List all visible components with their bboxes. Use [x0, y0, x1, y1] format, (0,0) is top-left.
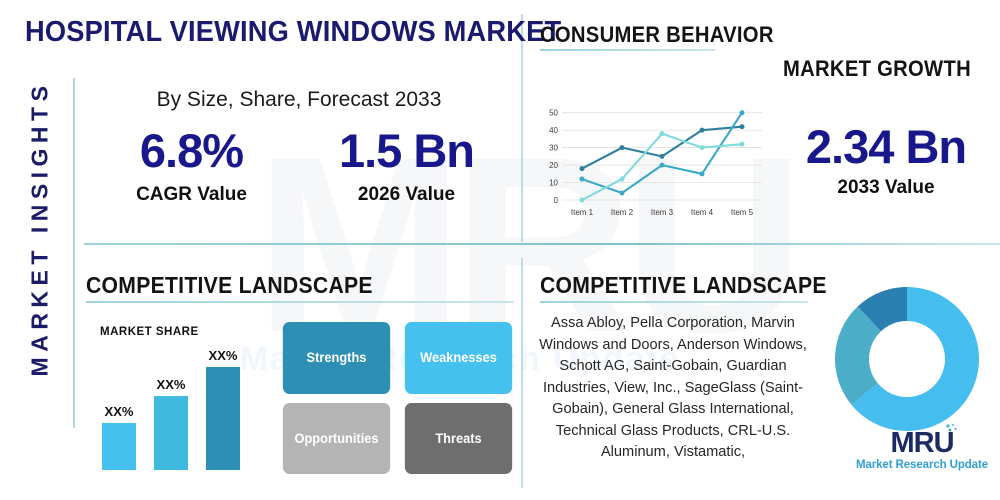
svg-text:0: 0	[554, 196, 559, 205]
svg-text:40: 40	[549, 126, 558, 135]
kpi-2026-value: 1.5 Bn	[299, 122, 514, 180]
svg-text:XX%: XX%	[105, 404, 134, 419]
swot-cell-label: Strengths	[307, 350, 367, 365]
market-growth-heading: MARKET GROWTH	[783, 56, 971, 82]
kpi-cagr: 6.8% CAGR Value	[84, 122, 299, 206]
swot-cell-label: Opportunities	[294, 431, 378, 446]
svg-text:XX%: XX%	[157, 377, 186, 392]
swot-cell-opportunities[interactable]: Opportunities	[283, 403, 390, 475]
vertical-separator-bottom	[521, 258, 523, 488]
logo-mark: MRU	[890, 428, 953, 458]
competitive-landscape-left-heading: COMPETITIVE LANDSCAPE	[86, 272, 373, 299]
consumer-behavior-heading: CONSUMER BEHAVIOR	[540, 22, 774, 48]
infographic-canvas: MRU Market Research Update MARKET INSIGH…	[0, 0, 1000, 500]
competitive-landscape-right-heading: COMPETITIVE LANDSCAPE	[540, 272, 827, 299]
swot-grid: StrengthsWeaknessesOpportunitiesThreats	[280, 322, 515, 474]
svg-text:10: 10	[549, 179, 558, 188]
page-title: HOSPITAL VIEWING WINDOWS MARKET	[25, 16, 486, 49]
svg-text:Item 1: Item 1	[571, 208, 594, 217]
swot-cell-threats[interactable]: Threats	[405, 403, 512, 475]
svg-text:XX%: XX%	[209, 348, 238, 363]
market-growth-label: 2033 Value	[775, 177, 997, 199]
company-list: Assa Abloy, Pella Corporation, Marvin Wi…	[528, 313, 818, 464]
svg-text:20: 20	[549, 161, 558, 170]
svg-text:50: 50	[549, 109, 558, 118]
consumer-behavior-line-chart: 01020304050Item 1Item 2Item 3Item 4Item …	[536, 100, 768, 222]
kpi-cagr-label: CAGR Value	[84, 184, 299, 206]
kpi-2026-label: 2026 Value	[299, 184, 514, 206]
rail-label: MARKET INSIGHTS	[27, 19, 54, 439]
swot-cell-label: Threats	[435, 431, 481, 446]
kpi-2026: 1.5 Bn 2026 Value	[299, 122, 514, 206]
swot-cell-strengths[interactable]: Strengths	[283, 322, 390, 394]
svg-text:Item 3: Item 3	[651, 208, 674, 217]
market-growth-kpi: 2.34 Bn 2033 Value	[775, 120, 997, 199]
kpi-row: 6.8% CAGR Value 1.5 Bn 2026 Value	[84, 122, 514, 206]
svg-text:Item 2: Item 2	[611, 208, 634, 217]
market-growth-value: 2.34 Bn	[775, 120, 997, 174]
vertical-separator-top	[521, 14, 523, 242]
consumer-behavior-rule	[540, 49, 715, 51]
market-share-bar-chart: XX%XX%XX%	[88, 318, 268, 478]
swot-cell-label: Weaknesses	[420, 350, 497, 365]
left-rail: MARKET INSIGHTS	[0, 0, 78, 500]
mru-logo: MRU Market Research Update	[852, 428, 992, 471]
logo-tagline: Market Research Update	[852, 459, 992, 471]
competitive-landscape-right-rule	[540, 301, 808, 303]
svg-text:30: 30	[549, 144, 558, 153]
svg-text:Item 5: Item 5	[731, 208, 754, 217]
logo-dots-icon	[944, 423, 958, 439]
horizontal-separator	[84, 243, 1000, 245]
competitive-landscape-left-rule	[86, 301, 514, 303]
market-share-donut-chart	[832, 284, 982, 434]
kpi-cagr-value: 6.8%	[84, 122, 299, 180]
svg-text:Item 4: Item 4	[691, 208, 714, 217]
swot-cell-weaknesses[interactable]: Weaknesses	[405, 322, 512, 394]
page-subtitle: By Size, Share, Forecast 2033	[84, 88, 514, 112]
market-share-title: MARKET SHARE	[100, 326, 199, 338]
